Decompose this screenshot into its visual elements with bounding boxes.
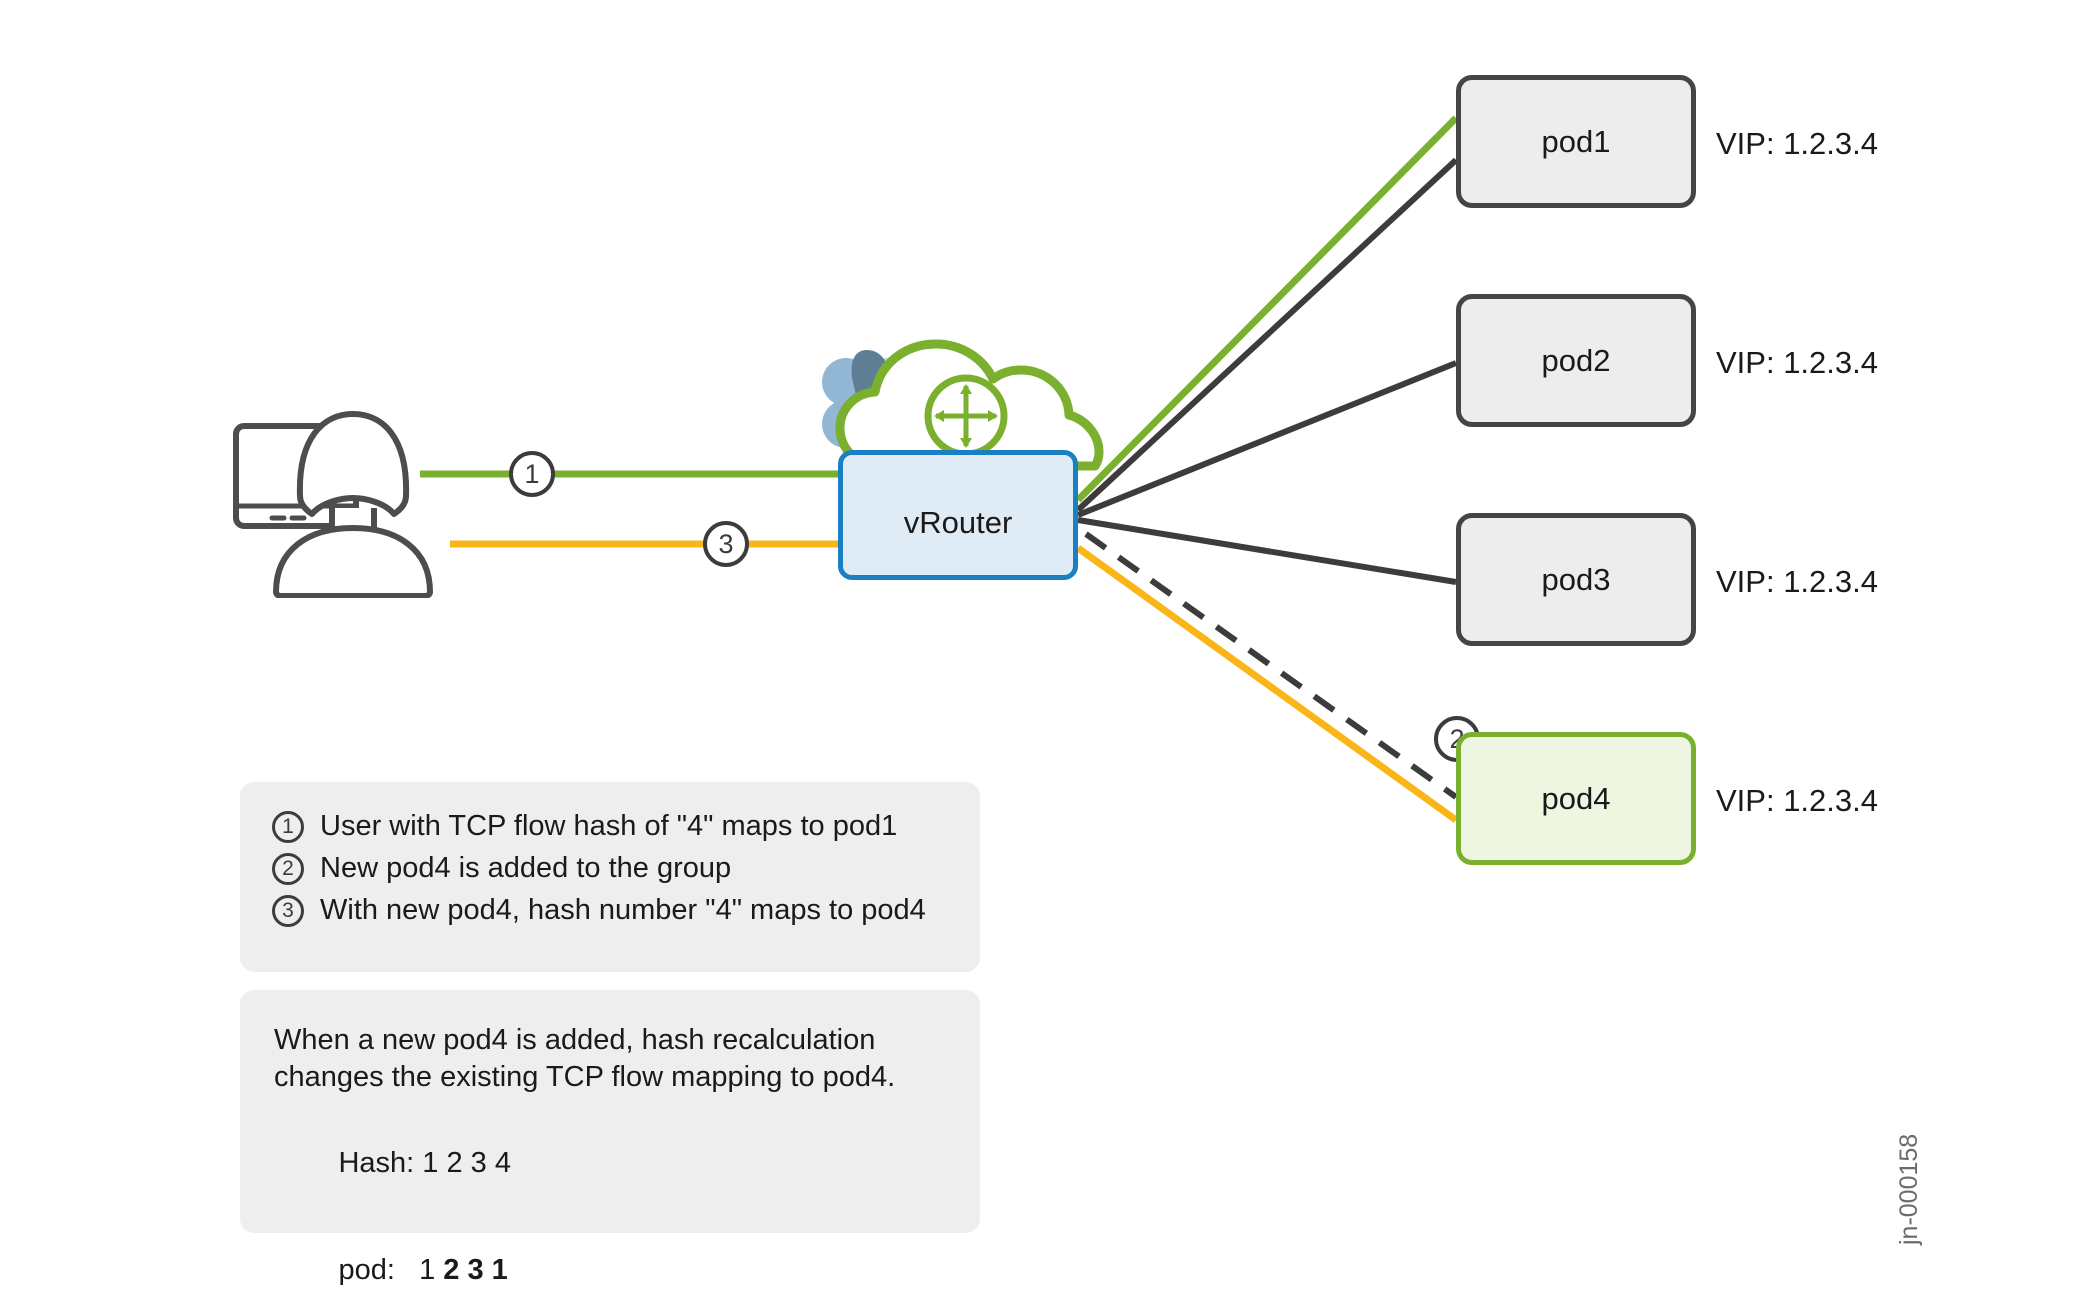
flow-vrouter-to-pod4-orange: [1078, 548, 1456, 820]
pod-row-label: pod:: [338, 1254, 394, 1286]
legend-item-label: New pod4 is added to the group: [320, 852, 731, 885]
pod-label: pod1: [1542, 124, 1611, 160]
legend-badge-1: 1: [272, 811, 304, 843]
step-badge-3-label: 3: [718, 529, 733, 560]
vrouter-label: vRouter: [904, 505, 1013, 541]
note-panel: When a new pod4 is added, hash recalcula…: [240, 990, 980, 1233]
legend-item: 3 With new pod4, hash number "4" maps to…: [272, 894, 980, 927]
note-paragraph-line-1: When a new pod4 is added, hash recalcula…: [274, 1022, 980, 1059]
legend-item: 1 User with TCP flow hash of "4" maps to…: [272, 810, 980, 843]
hash-row: Hash: 1 2 3 4: [274, 1111, 980, 1217]
legend-badge-2: 2: [272, 853, 304, 885]
diagram-canvas: vRouter 1 3 2 pod1 VIP: 1.2.3.4 pod2 VIP…: [0, 0, 2100, 1308]
legend-item-label: User with TCP flow hash of "4" maps to p…: [320, 810, 897, 843]
watermark-label: jn-000158: [1895, 1134, 1924, 1245]
vrouter-node[interactable]: vRouter: [838, 450, 1078, 580]
link-vrouter-to-pod3: [1078, 520, 1456, 582]
legend-item-label: With new pod4, hash number "4" maps to p…: [320, 894, 926, 927]
pod-label: pod3: [1542, 562, 1611, 598]
pod-row-first: 1: [419, 1254, 435, 1286]
vip-label-pod4: VIP: 1.2.3.4: [1716, 783, 1878, 819]
pod-label: pod4: [1542, 781, 1611, 817]
note-paragraph-line-2: changes the existing TCP flow mapping to…: [274, 1059, 980, 1096]
legend-item: 2 New pod4 is added to the group: [272, 852, 980, 885]
vip-label-pod2: VIP: 1.2.3.4: [1716, 345, 1878, 381]
link-vrouter-to-pod1: [1078, 160, 1456, 510]
step-badge-1-label: 1: [524, 459, 539, 490]
pod-row-bold: 2 3 1: [443, 1254, 508, 1286]
vip-label-pod3: VIP: 1.2.3.4: [1716, 564, 1878, 600]
step-badge-1: 1: [509, 451, 555, 497]
pod-label: pod2: [1542, 343, 1611, 379]
pod-box-pod1[interactable]: pod1: [1456, 75, 1696, 208]
router-glyph-icon: [928, 378, 1004, 454]
hash-row-values: 1 2 3 4: [422, 1147, 511, 1179]
pod-box-pod3[interactable]: pod3: [1456, 513, 1696, 646]
vip-label-pod1: VIP: 1.2.3.4: [1716, 126, 1878, 162]
pod-row: pod: 1 2 3 1: [274, 1217, 980, 1308]
pod-box-pod4[interactable]: pod4: [1456, 732, 1696, 865]
pod-box-pod2[interactable]: pod2: [1456, 294, 1696, 427]
hash-mapping-table: Hash: 1 2 3 4 pod: 1 2 3 1 pod*: 1 2 3 4: [274, 1111, 980, 1308]
user-hair-icon: [300, 414, 406, 514]
hash-row-label: Hash:: [338, 1147, 414, 1179]
client-workstation-icon: [228, 398, 478, 598]
legend-badge-3: 3: [272, 895, 304, 927]
user-body-icon: [276, 528, 430, 596]
step-badge-3: 3: [703, 521, 749, 567]
flow-vrouter-to-pod1-green: [1078, 118, 1456, 500]
legend-panel: 1 User with TCP flow hash of "4" maps to…: [240, 782, 980, 972]
